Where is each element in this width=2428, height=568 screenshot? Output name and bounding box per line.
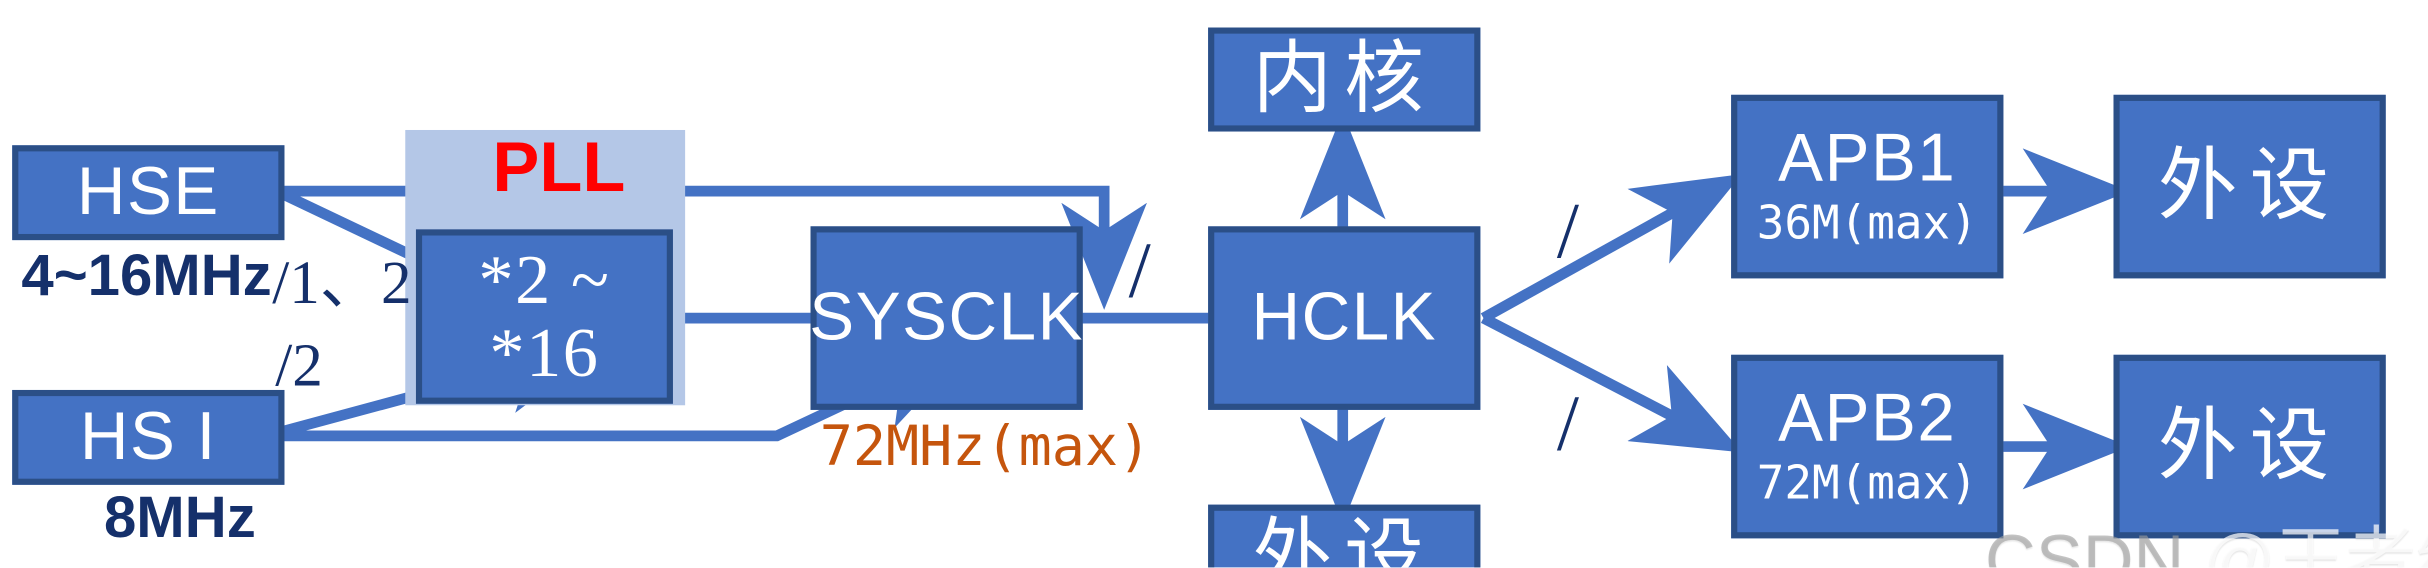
wire-hclk-to-apb1 — [1483, 184, 1725, 319]
sysclk-caption: 72MHz(max) — [820, 416, 1151, 479]
hse-caption: 4~16MHz — [21, 245, 271, 311]
hse-block[interactable]: HSE — [12, 145, 284, 240]
hclk-block[interactable]: HCLK — [1208, 226, 1480, 410]
hsi-label: HS I — [80, 402, 217, 473]
hclk-label: HCLK — [1251, 283, 1437, 354]
pll-title: PLL — [492, 125, 625, 208]
divider-hclk-to-apb1: / — [1557, 187, 1579, 277]
sysclk-label: SYSCLK — [809, 283, 1084, 354]
sysclk-block[interactable]: SYSCLK — [811, 226, 1083, 410]
apb2-label: APB2 — [1778, 384, 1956, 455]
hsi-block[interactable]: HS I — [12, 390, 284, 485]
watermark-user: @王者级废铁 — [2204, 520, 2428, 567]
csdn-watermark: CSDN @王者级废铁 — [1985, 505, 2428, 568]
core-label: 内核 — [1252, 38, 1436, 121]
peripheral-bottom-label: 外设 — [1252, 515, 1436, 567]
apb1-label: APB1 — [1778, 124, 1956, 195]
pll-line1: *2 ~ — [478, 243, 610, 317]
divider-hclk-to-apb2: / — [1557, 379, 1579, 469]
peripheral-apb1-label: 外设 — [2158, 145, 2342, 228]
hse-label: HSE — [77, 157, 220, 228]
hsi-caption: 8MHz — [104, 486, 256, 552]
apb2-sub: 72M(max) — [1757, 461, 1978, 509]
apb1-block[interactable]: APB1 36M(max) — [1731, 95, 2003, 279]
pll-line2: *16 — [489, 317, 599, 391]
peripheral-apb1-block[interactable]: 外设 — [2113, 95, 2385, 279]
divider-sysclk-to-hclk: / — [1129, 226, 1151, 316]
apb2-block[interactable]: APB2 72M(max) — [1731, 355, 2003, 539]
core-block[interactable]: 内核 — [1208, 28, 1480, 132]
wire-hclk-to-apb2 — [1483, 318, 1725, 443]
peripheral-bottom-block[interactable]: 外设 — [1208, 505, 1480, 568]
divider-hse-to-pll: /1、2 — [272, 232, 411, 321]
clock-tree-diagram: PLL *2 ~ *16 HSE 4~16MHz HS I 8MHz /1、2 … — [0, 0, 2428, 567]
divider-hsi-to-pll: /2 — [275, 329, 323, 401]
peripheral-apb2-label: 外设 — [2158, 405, 2342, 488]
apb1-sub: 36M(max) — [1757, 201, 1978, 249]
pll-multiplier-block[interactable]: *2 ~ *16 — [416, 229, 673, 403]
watermark-host: CSDN — [1985, 520, 2184, 567]
